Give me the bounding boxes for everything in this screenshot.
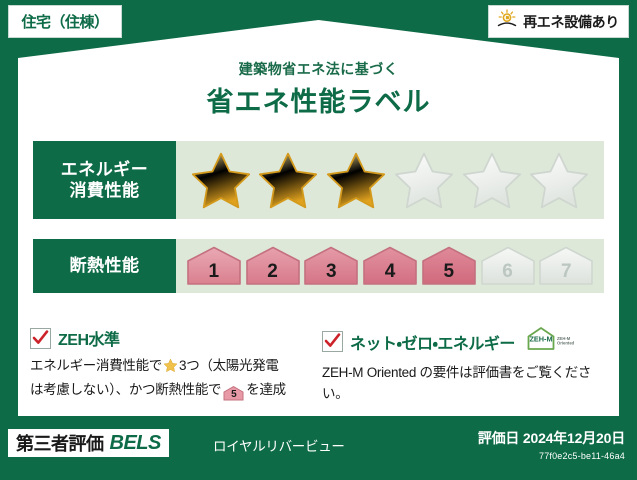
- label-subtitle: 建築物省エネ法に基づく: [0, 59, 637, 79]
- star-empty-icon: [461, 150, 523, 210]
- net-zero-energy-description: ZEH-M Oriented の要件は評価書をご覧ください。: [322, 363, 610, 405]
- insulation-level-active: 3: [302, 245, 360, 287]
- star-filled-icon: [325, 150, 387, 210]
- renewable-badge-label: 再エネ設備あり: [523, 12, 619, 32]
- star-filled-icon: [190, 150, 252, 210]
- solar-sun-icon: [496, 9, 518, 34]
- zeh-standard-block: ZEH水準 エネルギー消費性能で3つ（太陽光発電は考慮しない）、かつ断熱性能で5…: [30, 326, 318, 401]
- insulation-level-value: 1: [208, 261, 219, 287]
- insulation-level-value: 3: [326, 261, 337, 287]
- star-filled-icon: [257, 150, 319, 210]
- evaluation-uid: 77f0e2c5-be11-46a4: [478, 451, 625, 461]
- zeh-desc-part1: エネルギー消費性能で: [30, 358, 162, 373]
- evaluation-date: 評価日 2024年12月20日: [478, 428, 625, 448]
- insulation-level-value: 7: [561, 261, 572, 287]
- net-zero-energy-title: ネット・ゼロ・エネルギー: [350, 330, 515, 354]
- insulation-level-active: 4: [361, 245, 419, 287]
- inline-level-badge-value: 5: [223, 386, 244, 403]
- net-zero-energy-heading: ネット・ゼロ・エネルギー ZEH-M ZEH-M Oriented: [322, 326, 610, 357]
- insulation-label-text: 断熱性能: [70, 255, 140, 276]
- insulation-level-value: 2: [267, 261, 278, 287]
- page-title: 省エネ性能ラベル: [0, 80, 637, 119]
- energy-performance-row: エネルギー 消費性能: [33, 141, 604, 219]
- inline-star-icon: [163, 361, 178, 376]
- zeh-standard-checkbox: [30, 328, 51, 349]
- svg-text:ZEH-M: ZEH-M: [529, 335, 552, 344]
- insulation-level-value: 5: [443, 261, 454, 287]
- third-party-eval-label: 第三者評価: [16, 430, 104, 456]
- bels-logo-text: BELS: [110, 432, 161, 455]
- energy-label-line2: 消費性能: [70, 180, 140, 201]
- star-empty-icon: [528, 150, 590, 210]
- building-name: ロイヤルリバービュー: [213, 435, 345, 455]
- insulation-performance-label: 断熱性能: [33, 239, 176, 293]
- zeh-standard-description: エネルギー消費性能で3つ（太陽光発電は考慮しない）、かつ断熱性能で5を達成: [30, 356, 318, 401]
- zeh-standard-heading: ZEH水準: [30, 326, 318, 350]
- renewable-energy-badge: 再エネ設備あり: [488, 5, 629, 38]
- zeh-desc-star-count: 3つ（太陽光発電: [179, 358, 279, 373]
- insulation-level-active: 2: [244, 245, 302, 287]
- star-empty-icon: [393, 150, 455, 210]
- net-zero-energy-checkbox: [322, 331, 343, 352]
- energy-performance-label: エネルギー 消費性能: [33, 141, 176, 219]
- insulation-level-inactive: 6: [479, 245, 537, 287]
- insulation-level-scale: 1234567: [176, 239, 604, 293]
- zeh-m-oriented-logo: ZEH-M ZEH-M Oriented: [526, 326, 582, 357]
- svg-text:Oriented: Oriented: [557, 341, 575, 346]
- insulation-level-inactive: 7: [537, 245, 595, 287]
- inline-level-badge: 5: [223, 386, 244, 401]
- insulation-performance-row: 断熱性能 1234567: [33, 239, 604, 293]
- zeh-desc-part2: は考慮しない）、かつ断熱性能で: [30, 382, 221, 397]
- energy-performance-label: 住宅（住棟） 再エネ設備あり 建築物省エネ法に基づく 省エネ性能ラベル: [0, 0, 637, 480]
- insulation-level-value: 6: [502, 261, 513, 287]
- zeh-desc-part3: を達成: [246, 382, 286, 397]
- insulation-level-active: 5: [420, 245, 478, 287]
- star-rating: [176, 141, 604, 219]
- energy-label-line1: エネルギー: [61, 159, 149, 180]
- insulation-level-active: 1: [185, 245, 243, 287]
- evaluation-info: 評価日 2024年12月20日 77f0e2c5-be11-46a4: [478, 428, 625, 461]
- bels-footer-badge: 第三者評価 BELS: [8, 429, 169, 457]
- zeh-standard-title: ZEH水準: [58, 326, 120, 350]
- net-zero-energy-block: ネット・ゼロ・エネルギー ZEH-M ZEH-M Oriented ZEH-M …: [322, 326, 610, 405]
- category-tag: 住宅（住棟）: [8, 5, 122, 38]
- insulation-level-value: 4: [385, 261, 396, 287]
